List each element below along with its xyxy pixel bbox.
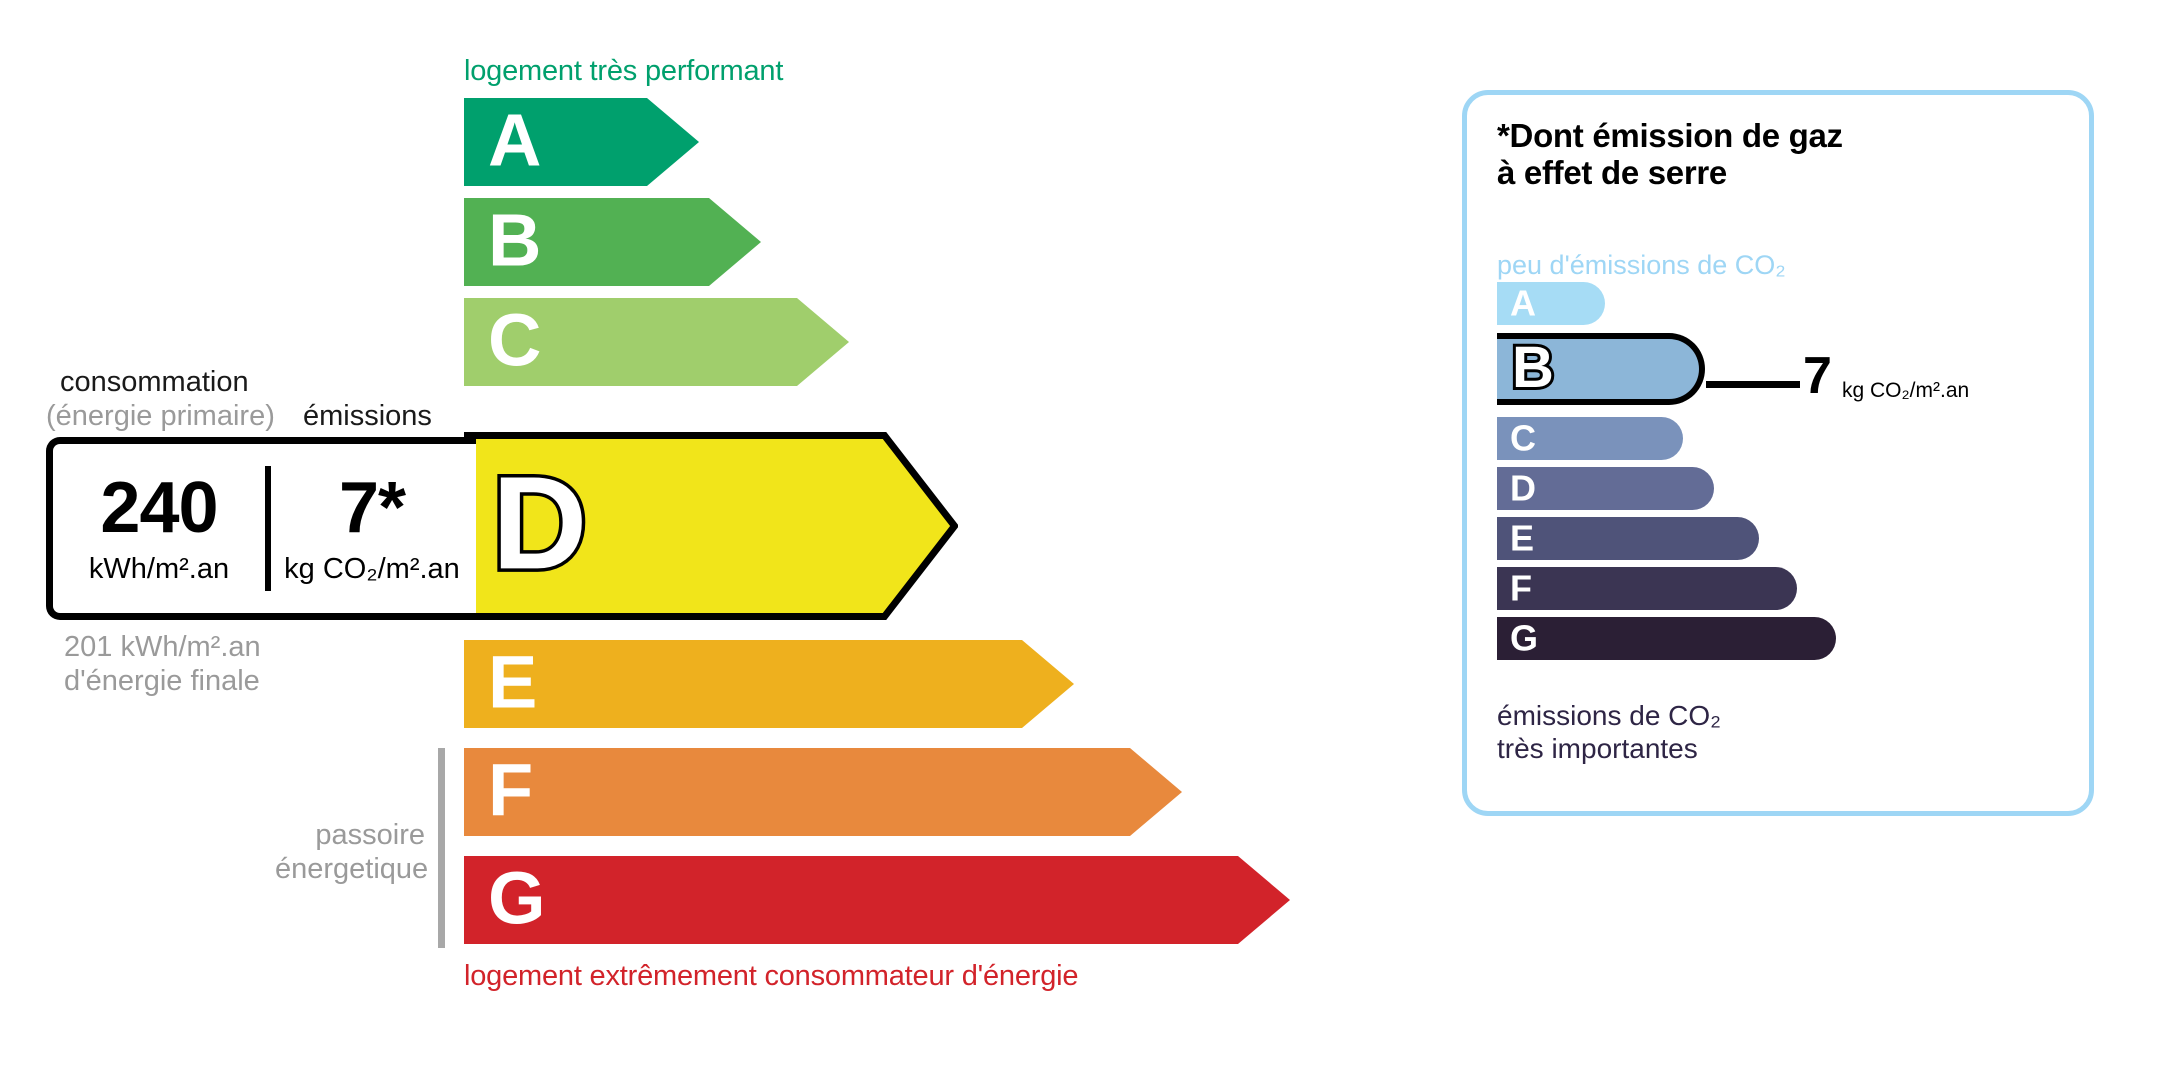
emission-unit: kg CO₂/m².an (284, 553, 460, 586)
co2-bar-g: G (1497, 617, 1836, 660)
co2-bar-letter-g: G (1510, 620, 1538, 656)
energy-bar-d: D (464, 432, 958, 620)
energy-bar-letter-a: A (488, 104, 541, 178)
passoire-bracket (438, 748, 445, 948)
arrow-shape-f (464, 748, 1182, 836)
co2-bar-fill-e (1497, 517, 1759, 560)
energy-bar-g: G (464, 856, 1290, 944)
co2-emissions-panel: *Dont émission de gazà effet de serre pe… (1462, 90, 2094, 816)
energy-bar-letter-e: E (488, 646, 537, 720)
co2-bar-f: F (1497, 567, 1797, 610)
passoire-label: passoireénergetique (275, 818, 425, 886)
energy-bar-letter-f: F (488, 754, 533, 828)
energy-bar-letter-c: C (488, 304, 541, 378)
consumption-value: 240 (100, 472, 217, 544)
co2-bottom-caption: émissions de CO₂très importantes (1497, 699, 1721, 765)
co2-callout-line (1706, 381, 1800, 388)
co2-bar-a: A (1497, 282, 1605, 325)
emission-value-cell: 7* kg CO₂/m².an (268, 444, 476, 613)
energy-performance-chart: logement très performant ABCDEFG logemen… (0, 0, 1400, 1079)
energy-bar-a: A (464, 98, 699, 186)
co2-bar-letter-d: D (1510, 470, 1536, 506)
energy-bar-letter-d: D (492, 457, 587, 589)
co2-bar-d: D (1497, 467, 1714, 510)
energy-bar-b: B (464, 198, 761, 286)
dpe-value-box: 240 kWh/m².an 7* kg CO₂/m².an (46, 437, 476, 620)
final-energy-note: 201 kWh/m².and'énergie finale (64, 630, 261, 698)
energy-bar-c: C (464, 298, 849, 386)
co2-bar-fill-f (1497, 567, 1797, 610)
co2-panel-title: *Dont émission de gazà effet de serre (1497, 117, 1843, 192)
emission-value: 7* (339, 472, 405, 544)
co2-bar-c: C (1497, 417, 1683, 460)
consumption-value-cell: 240 kWh/m².an (53, 444, 265, 613)
energy-bottom-caption: logement extrêmement consommateur d'éner… (464, 960, 1078, 993)
arrow-shape-e (464, 640, 1074, 728)
energy-bar-f: F (464, 748, 1182, 836)
energy-top-caption: logement très performant (464, 55, 783, 88)
arrow-shape-g (464, 856, 1290, 944)
co2-bar-letter-e: E (1510, 520, 1534, 556)
co2-bar-letter-a: A (1510, 285, 1536, 321)
energy-bar-letter-b: B (488, 204, 541, 278)
label-consommation: consommation (60, 366, 249, 399)
co2-bar-b: B7kg CO₂/m².an (1497, 333, 1705, 405)
consumption-unit: kWh/m².an (89, 553, 229, 586)
co2-bar-fill-g (1497, 617, 1836, 660)
energy-bar-e: E (464, 640, 1074, 728)
label-emissions: émissions (303, 400, 432, 433)
co2-bar-letter-f: F (1510, 570, 1532, 606)
co2-bar-e: E (1497, 517, 1759, 560)
co2-bar-letter-b: B (1512, 339, 1554, 397)
label-energie-primaire: (énergie primaire) (46, 400, 275, 433)
energy-bar-letter-g: G (488, 862, 546, 936)
co2-callout-unit: kg CO₂/m².an (1842, 379, 1969, 403)
co2-top-caption: peu d'émissions de CO₂ (1497, 250, 1786, 281)
co2-callout-value: 7 (1803, 350, 1832, 402)
co2-bar-letter-c: C (1510, 420, 1536, 456)
